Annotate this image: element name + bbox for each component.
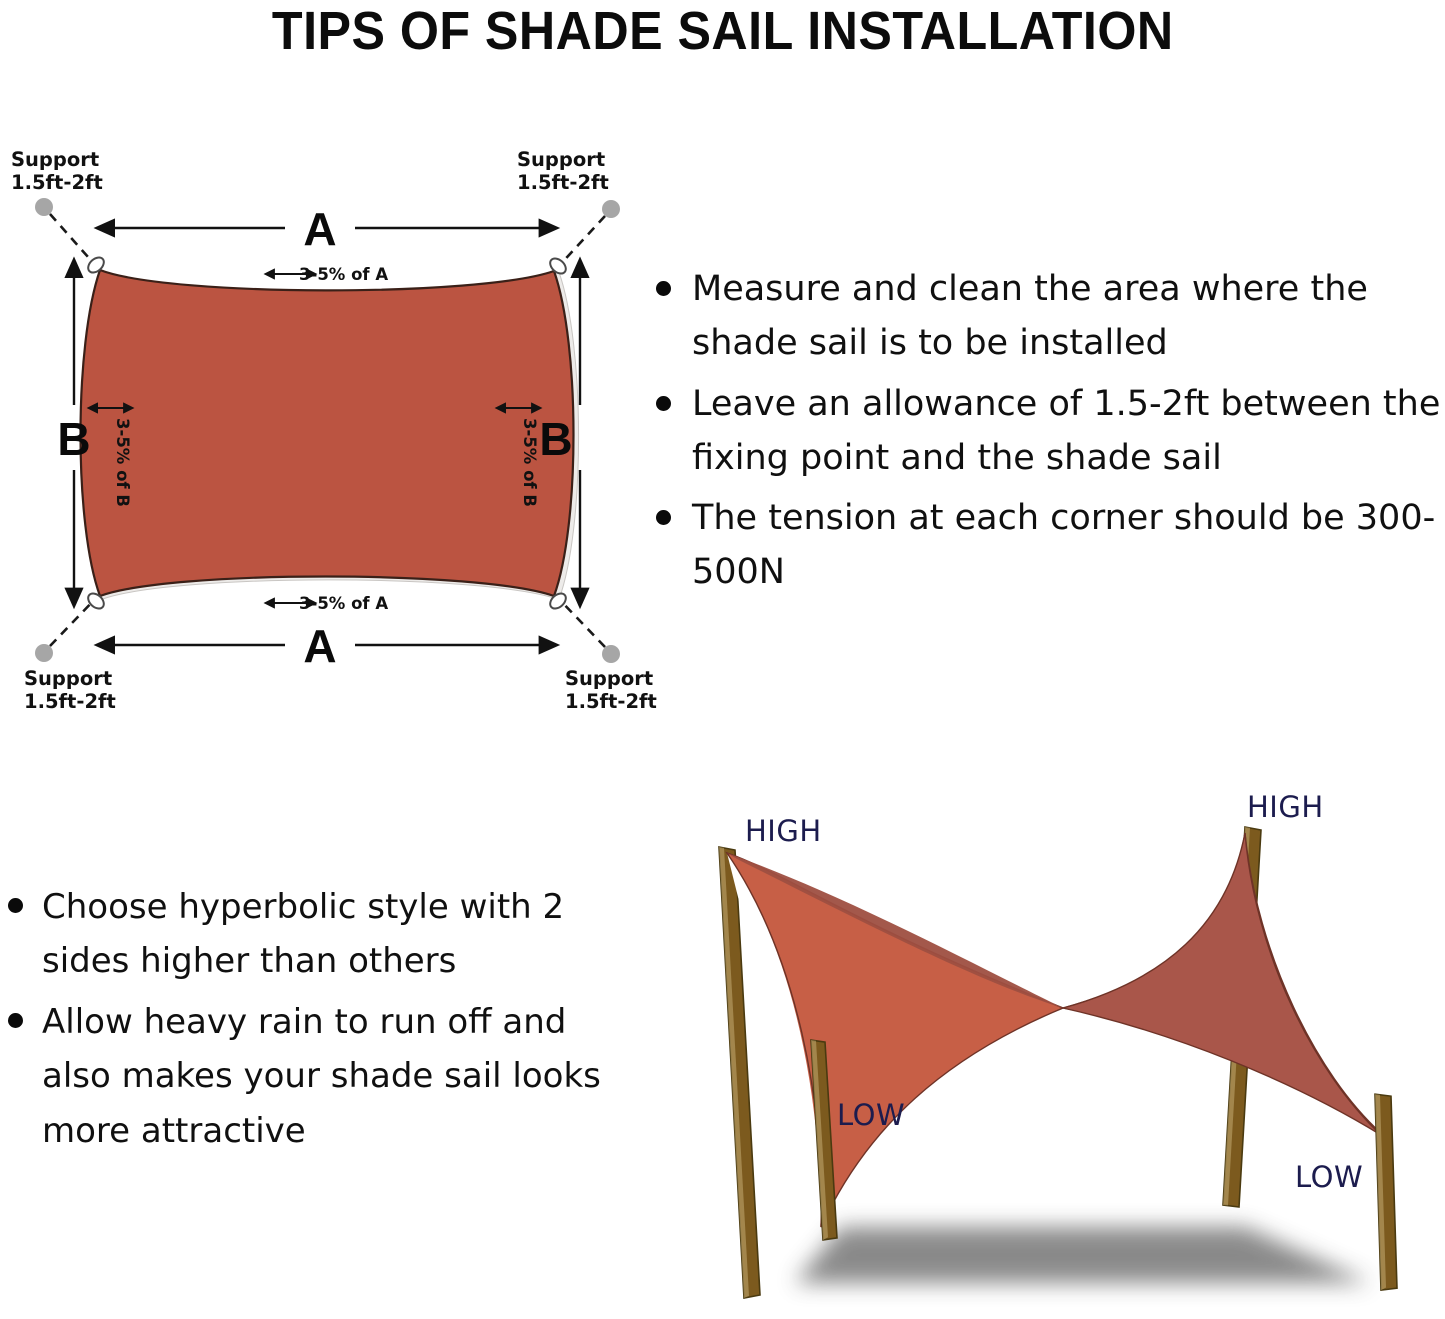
shade-sail-body: [81, 270, 574, 596]
page-title: TIPS OF SHADE SAIL INSTALLATION: [272, 4, 1174, 58]
hyperbolic-sail-svg: HIGH HIGH LOW LOW: [645, 775, 1445, 1319]
support-label-bottom-right: Support 1.5ft-2ft: [565, 667, 657, 713]
rectangular-sail-diagram: A 3-5% of A A 3-5% of A B 3-5% of B: [0, 150, 665, 730]
tip-text: The tension at each corner should be 300…: [692, 498, 1435, 592]
tip-text: Measure and clean the area where the sha…: [692, 269, 1368, 363]
anchor-dot-bottom-right: [602, 645, 620, 663]
curvature-label-bottom: 3-5% of A: [299, 594, 388, 613]
curvature-label-left: 3-5% of B: [113, 418, 132, 507]
post-label-low-right: LOW: [1295, 1160, 1363, 1194]
dimension-label-right-B: B: [539, 413, 572, 465]
support-label-top-left-line2: 1.5ft-2ft: [11, 171, 103, 194]
rope-bottom-right: [558, 598, 605, 647]
hyperbolic-tips-list: Choose hyperbolic style with 2 sides hig…: [0, 880, 630, 1210]
title-bar: TIPS OF SHADE SAIL INSTALLATION: [0, 0, 1445, 62]
bullet-dot-icon: [8, 1013, 23, 1028]
tips-list-bottom: Choose hyperbolic style with 2 sides hig…: [0, 880, 630, 1158]
bullet-dot-icon: [656, 396, 671, 411]
support-label-top-right-line2: 1.5ft-2ft: [517, 171, 609, 194]
post-front-right: [1375, 1094, 1397, 1290]
list-item: The tension at each corner should be 300…: [648, 491, 1445, 600]
post-label-low-left: LOW: [837, 1098, 905, 1132]
tip-text: Allow heavy rain to run off and also mak…: [42, 1002, 601, 1151]
list-item: Measure and clean the area where the sha…: [648, 262, 1445, 371]
support-label-bottom-left-line1: Support: [24, 667, 112, 690]
support-label-bottom-left-line2: 1.5ft-2ft: [24, 690, 116, 713]
tip-text: Choose hyperbolic style with 2 sides hig…: [42, 887, 564, 981]
hyperbolic-sail-illustration: HIGH HIGH LOW LOW: [645, 775, 1445, 1319]
installation-tips-list: Measure and clean the area where the sha…: [648, 262, 1445, 662]
dimension-bottom-A: A: [115, 620, 541, 672]
dimension-label-top-A: A: [303, 203, 336, 255]
dimension-top-A: A: [115, 203, 541, 255]
bullet-dot-icon: [656, 510, 671, 525]
rope-bottom-left: [50, 598, 96, 646]
list-item: Leave an allowance of 1.5-2ft between th…: [648, 377, 1445, 486]
support-label-bottom-right-line1: Support: [565, 667, 653, 690]
anchor-dot-top-left: [35, 198, 53, 216]
dimension-left-B: B: [57, 278, 90, 590]
post-label-high-left: HIGH: [745, 814, 822, 848]
dimension-label-left-B: B: [57, 413, 90, 465]
support-label-bottom-right-line2: 1.5ft-2ft: [565, 690, 657, 713]
tips-list-right: Measure and clean the area where the sha…: [648, 262, 1445, 600]
rope-top-left: [50, 214, 96, 266]
rope-top-right: [558, 216, 605, 267]
support-label-top-right: Support 1.5ft-2ft: [517, 150, 609, 194]
support-label-top-left: Support 1.5ft-2ft: [11, 150, 103, 194]
ground-shadow: [795, 1227, 1371, 1283]
rectangular-sail-svg: A 3-5% of A A 3-5% of A B 3-5% of B: [0, 150, 665, 730]
list-item: Choose hyperbolic style with 2 sides hig…: [0, 880, 630, 989]
curvature-label-top: 3-5% of A: [299, 265, 388, 284]
curvature-top: 3-5% of A: [273, 265, 388, 284]
curvature-bottom: 3-5% of A: [273, 594, 388, 613]
support-label-top-left-line1: Support: [11, 150, 99, 171]
support-label-top-right-line1: Support: [517, 150, 605, 171]
anchor-dot-top-right: [602, 200, 620, 218]
tip-text: Leave an allowance of 1.5-2ft between th…: [692, 384, 1440, 478]
dimension-label-bottom-A: A: [303, 620, 336, 672]
curvature-label-right: 3-5% of B: [520, 418, 539, 507]
list-item: Allow heavy rain to run off and also mak…: [0, 995, 630, 1158]
bullet-dot-icon: [656, 281, 671, 296]
post-label-high-right: HIGH: [1247, 790, 1324, 824]
anchor-dot-bottom-left: [35, 644, 53, 662]
sail-right-wing: [1063, 833, 1381, 1135]
bullet-dot-icon: [8, 898, 23, 913]
support-label-bottom-left: Support 1.5ft-2ft: [24, 667, 116, 713]
